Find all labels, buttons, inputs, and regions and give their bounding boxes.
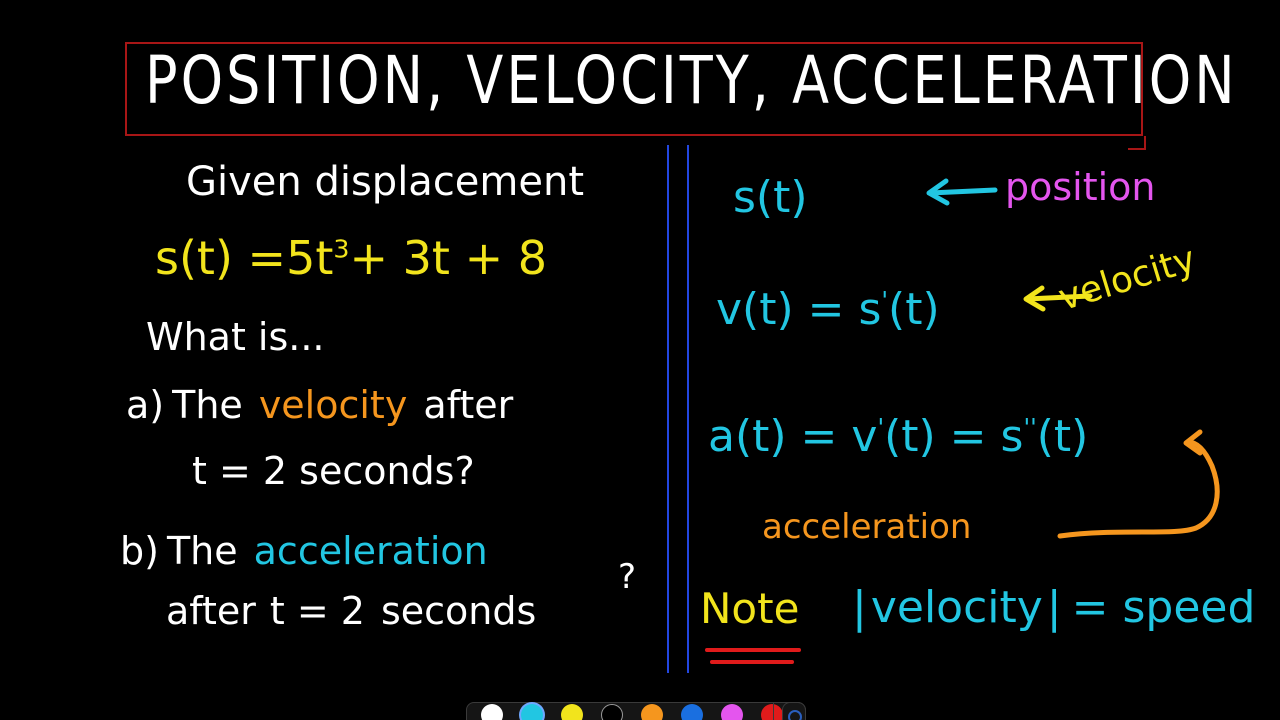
- whiteboard-canvas: POSITION, VELOCITY, ACCELERATION Given d…: [0, 0, 1280, 720]
- note-equals-speed: = speed: [1072, 582, 1256, 633]
- note-underline-2: [710, 660, 794, 664]
- equation-exponent: 3: [333, 235, 349, 264]
- question-b-highlight: acceleration: [254, 529, 488, 573]
- velocity-label: velocity: [1055, 242, 1200, 318]
- swatch-yellow[interactable]: [561, 704, 583, 720]
- toolbar-separator: [773, 702, 774, 720]
- note-expression: |velocity|= speed: [852, 586, 1255, 630]
- acceleration-prime-2: '': [1023, 413, 1036, 441]
- swatch-blue[interactable]: [681, 704, 703, 720]
- what-is-prompt: What is...: [146, 318, 325, 356]
- color-palette-toolbar[interactable]: [466, 702, 806, 720]
- note-inner-word: velocity: [871, 582, 1043, 633]
- acceleration-label: acceleration: [762, 510, 971, 544]
- velocity-formula: v(t) = s'(t): [716, 288, 940, 332]
- note-underline-1: [705, 648, 801, 652]
- swatch-white[interactable]: [481, 704, 503, 720]
- question-a-part2: after: [423, 383, 513, 427]
- note-word: Note: [700, 588, 799, 630]
- question-a-line2: t = 2 seconds?: [192, 452, 475, 490]
- note-bar-left: |: [852, 582, 867, 633]
- acceleration-formula-b: (t) = s: [884, 411, 1023, 462]
- equation-term1: 5t: [286, 231, 333, 285]
- swatch-red[interactable]: [761, 704, 783, 720]
- title-box-tail: [1128, 136, 1146, 150]
- swatch-orange[interactable]: [641, 704, 663, 720]
- position-label: position: [1005, 168, 1156, 206]
- position-formula: s(t): [733, 176, 808, 220]
- swatch-magenta[interactable]: [721, 704, 743, 720]
- velocity-formula-a: v(t) = s: [716, 284, 881, 335]
- divider-line-left: [667, 145, 669, 673]
- page-title: POSITION, VELOCITY, ACCELERATION: [145, 48, 1125, 114]
- note-bar-right: |: [1047, 582, 1062, 633]
- divider-line-right: [687, 145, 689, 673]
- question-a-highlight: velocity: [259, 383, 408, 427]
- position-left-arrow-icon: [929, 181, 995, 203]
- question-a-part1: The: [172, 383, 243, 427]
- question-b-line2: aftert = 2seconds: [166, 592, 536, 630]
- question-b-seconds: seconds: [381, 589, 536, 633]
- question-a-line1: a)Thevelocityafter: [126, 386, 513, 424]
- question-a-marker: a): [126, 383, 164, 427]
- acceleration-formula-c: (t): [1037, 411, 1089, 462]
- question-b-part1: The: [167, 529, 238, 573]
- question-b-question-mark: ?: [618, 560, 636, 594]
- question-b-line1: b)Theacceleration: [120, 532, 488, 570]
- velocity-formula-b: (t): [888, 284, 940, 335]
- swatch-black[interactable]: [601, 704, 623, 720]
- pen-tool-icon[interactable]: [788, 710, 802, 720]
- equation-rest: + 3t + 8: [349, 231, 547, 285]
- given-displacement-line: Given displacement: [186, 162, 584, 202]
- equation-lhs: s(t) =: [155, 231, 286, 285]
- displacement-equation: s(t) =5t3+ 3t + 8: [155, 235, 547, 281]
- question-b-after: after: [166, 589, 256, 633]
- acceleration-formula-a: a(t) = v: [708, 411, 877, 462]
- swatch-cyan[interactable]: [521, 704, 543, 720]
- question-b-time: t = 2: [270, 589, 365, 633]
- acceleration-formula: a(t) = v'(t) = s''(t): [708, 415, 1088, 459]
- question-b-marker: b): [120, 529, 159, 573]
